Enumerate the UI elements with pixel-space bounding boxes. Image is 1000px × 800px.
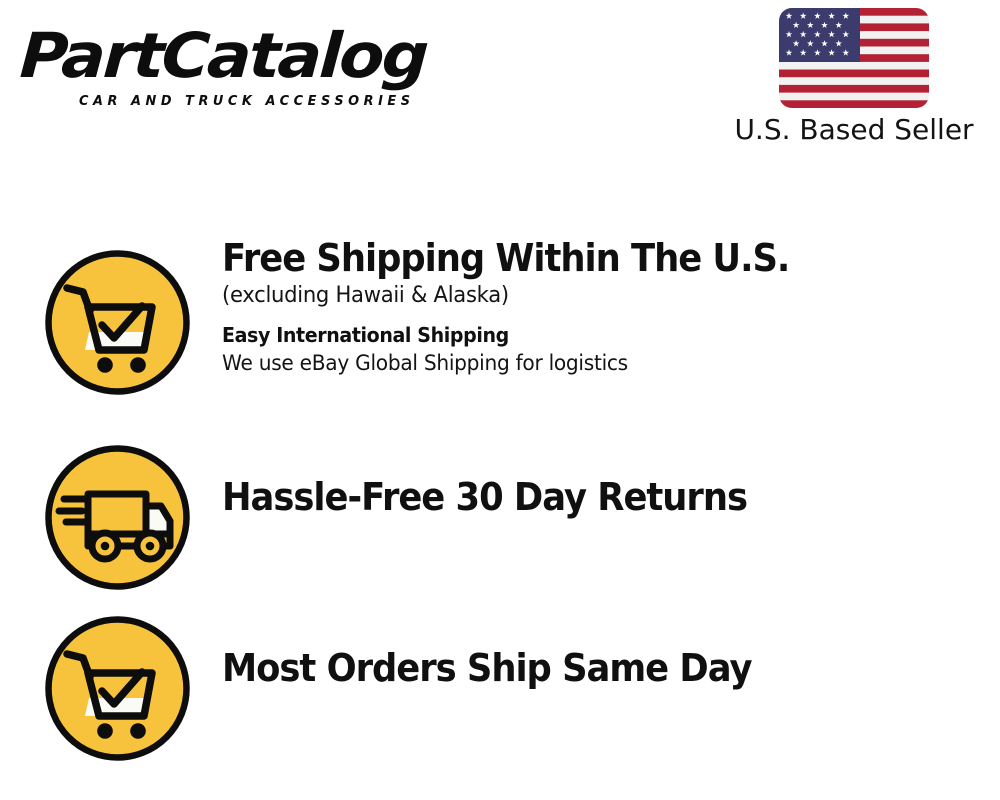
feature-row-free-shipping: Free Shipping Within The U.S. (excluding… xyxy=(0,235,1000,415)
feature-sub-title: Easy International Shipping xyxy=(222,322,944,349)
feature-text-returns: Hassle-Free 30 Day Returns xyxy=(222,474,982,520)
us-flag-icon xyxy=(779,8,929,108)
brand-wordmark: PartCatalog xyxy=(18,24,520,88)
brand-tagline: CAR AND TRUCK ACCESSORIES xyxy=(79,94,415,109)
delivery-truck-icon xyxy=(42,442,193,593)
us-based-seller-badge: U.S. Based Seller xyxy=(720,8,988,147)
cart-check-icon xyxy=(42,247,193,398)
feature-note: (excluding Hawaii & Alaska) xyxy=(222,281,952,311)
feature-text-free-shipping: Free Shipping Within The U.S. (excluding… xyxy=(222,235,982,378)
feature-text-same-day: Most Orders Ship Same Day xyxy=(222,645,982,691)
feature-row-same-day: Most Orders Ship Same Day xyxy=(0,590,1000,750)
page-header: PartCatalog CAR AND TRUCK ACCESSORIES xyxy=(0,0,1000,170)
cart-check-icon xyxy=(42,613,193,764)
feature-title: Most Orders Ship Same Day xyxy=(222,645,929,691)
us-based-seller-label: U.S. Based Seller xyxy=(720,113,988,147)
feature-title: Hassle-Free 30 Day Returns xyxy=(222,474,929,520)
feature-title: Free Shipping Within The U.S. xyxy=(222,235,929,281)
feature-row-returns: Hassle-Free 30 Day Returns xyxy=(0,419,1000,579)
partcatalog-logo[interactable]: PartCatalog CAR AND TRUCK ACCESSORIES xyxy=(22,24,492,114)
feature-sub-note: We use eBay Global Shipping for logistic… xyxy=(222,349,952,378)
